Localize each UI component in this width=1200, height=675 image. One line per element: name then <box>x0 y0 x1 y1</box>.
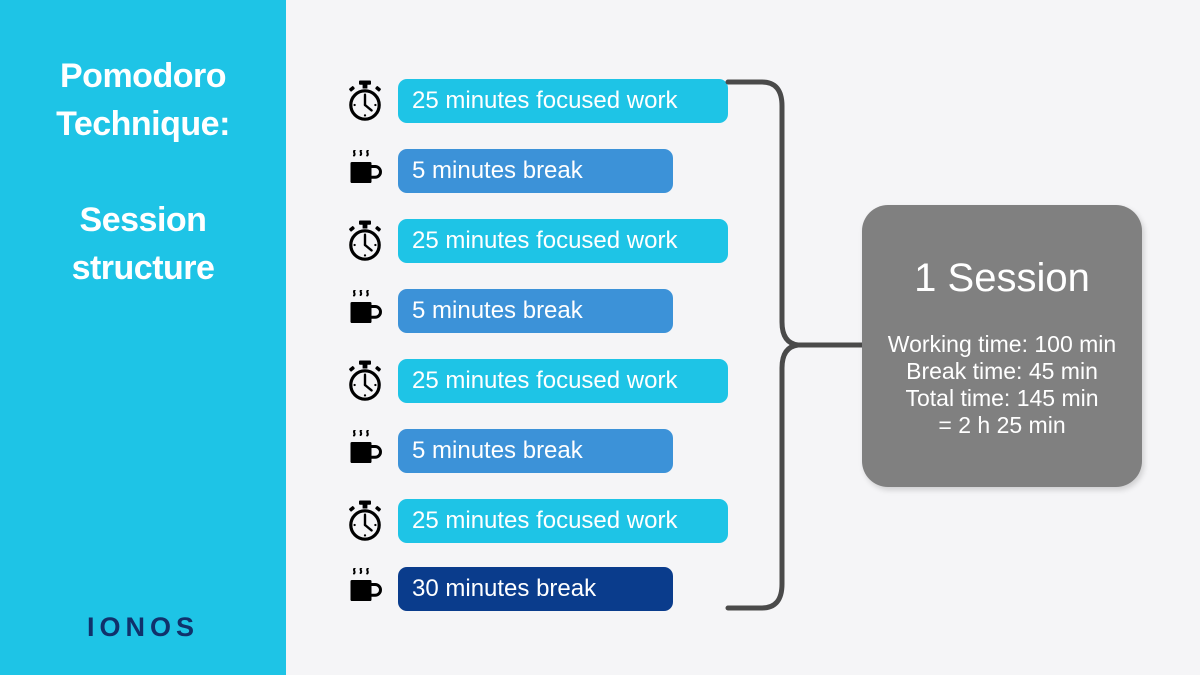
stopwatch-icon <box>342 498 388 544</box>
session-detail-total-time: Total time: 145 min <box>862 385 1142 412</box>
list-item[interactable]: 25 minutes focused work <box>342 358 728 404</box>
coffee-mug-icon <box>342 288 388 334</box>
timeline-bar-label: 5 minutes break <box>398 429 673 473</box>
page-title-line-1: Pomodoro <box>0 52 286 100</box>
list-item[interactable]: 5 minutes break <box>342 288 673 334</box>
timeline-bar-label: 5 minutes break <box>398 289 673 333</box>
page-subtitle-line-1: Session <box>0 196 286 244</box>
timeline-bar-label: 30 minutes break <box>398 567 673 611</box>
list-item[interactable]: 5 minutes break <box>342 428 673 474</box>
curly-brace-connector-icon <box>712 60 882 640</box>
slide-canvas: Pomodoro Technique: Session structure IO… <box>0 0 1200 675</box>
list-item[interactable]: 25 minutes focused work <box>342 498 728 544</box>
stopwatch-icon <box>342 78 388 124</box>
session-summary-card: 1 Session Working time: 100 min Break ti… <box>862 205 1142 487</box>
page-subtitle-line-2: structure <box>0 244 286 292</box>
list-item[interactable]: 25 minutes focused work <box>342 78 728 124</box>
list-item[interactable]: 30 minutes break <box>342 566 673 612</box>
sidebar-panel: Pomodoro Technique: Session structure IO… <box>0 0 286 675</box>
session-detail-working-time: Working time: 100 min <box>862 331 1142 358</box>
coffee-mug-icon <box>342 148 388 194</box>
timeline-bar-label: 25 minutes focused work <box>398 219 728 263</box>
page-title: Pomodoro Technique: <box>0 52 286 148</box>
list-item[interactable]: 5 minutes break <box>342 148 673 194</box>
session-details: Working time: 100 min Break time: 45 min… <box>862 331 1142 439</box>
page-title-line-2: Technique: <box>0 100 286 148</box>
coffee-mug-icon <box>342 566 388 612</box>
coffee-mug-icon <box>342 428 388 474</box>
timeline-bar-label: 25 minutes focused work <box>398 499 728 543</box>
ionos-logo: IONOS <box>0 612 286 643</box>
timeline-bar-label: 25 minutes focused work <box>398 359 728 403</box>
session-detail-break-time: Break time: 45 min <box>862 358 1142 385</box>
stopwatch-icon <box>342 218 388 264</box>
timeline-bar-label: 5 minutes break <box>398 149 673 193</box>
session-detail-total-hours: = 2 h 25 min <box>862 412 1142 439</box>
page-subtitle: Session structure <box>0 196 286 292</box>
list-item[interactable]: 25 minutes focused work <box>342 218 728 264</box>
timeline-bar-label: 25 minutes focused work <box>398 79 728 123</box>
session-heading: 1 Session <box>862 255 1142 301</box>
stopwatch-icon <box>342 358 388 404</box>
